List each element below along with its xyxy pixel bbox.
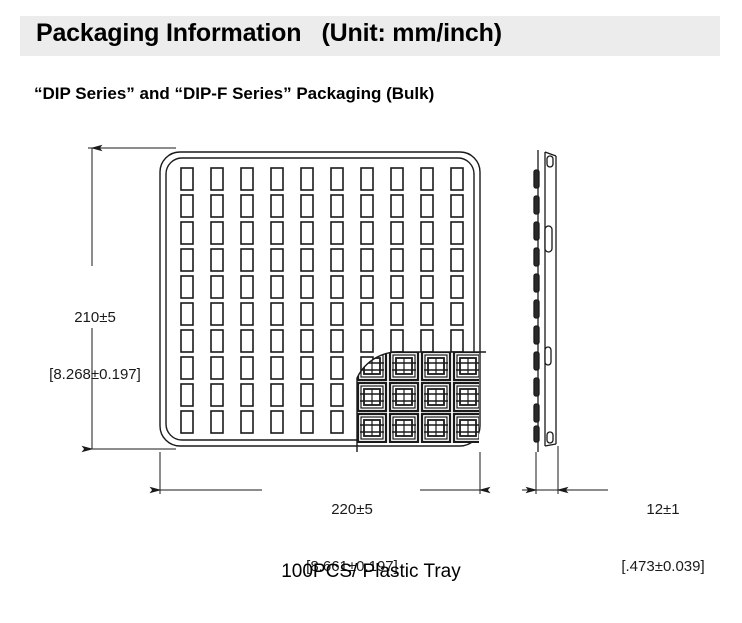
packaging-caption: 100PCS/ Plastic Tray xyxy=(0,561,742,583)
detail-zoom-region xyxy=(355,350,482,446)
dimension-right-mm: 12±1 xyxy=(586,500,740,519)
dimension-label-tray-height: 210±5 [8.268±0.197] xyxy=(28,270,162,422)
dimension-left-mm: 210±5 xyxy=(28,308,162,327)
dimension-label-tray-thickness: 12±1 [.473±0.039] xyxy=(586,462,740,614)
dimension-bottom-mm: 220±5 xyxy=(252,500,452,519)
dimension-left-inch: [8.268±0.197] xyxy=(28,365,162,384)
tray-side-view xyxy=(534,150,556,452)
dimension-label-tray-width: 220±5 [8.661±0.197] xyxy=(252,462,452,614)
packaging-information-page: Packaging Information (Unit: mm/inch) “D… xyxy=(0,0,742,623)
